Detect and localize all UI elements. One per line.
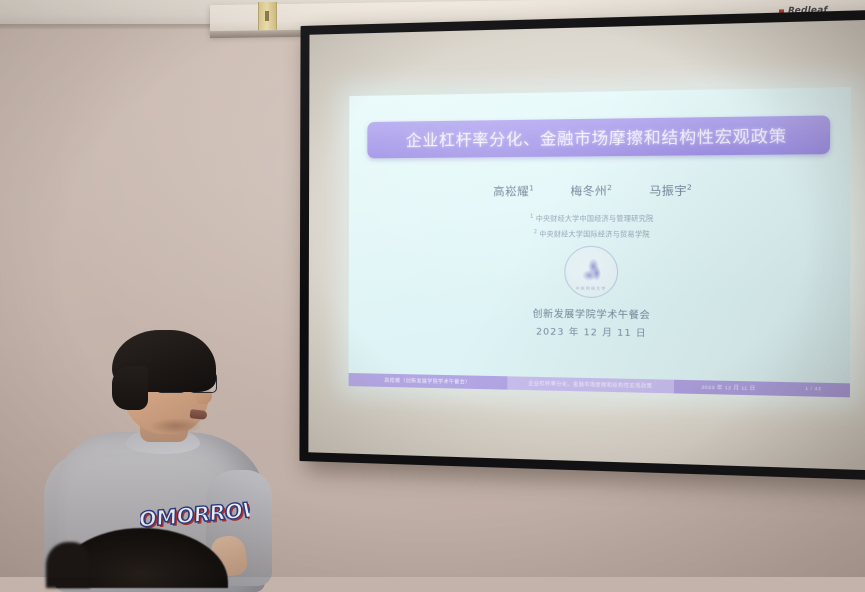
photo-scene: Redleaf 企业杠杆率分化、金融市场摩擦和结构性宏观政策 高崧耀1 梅冬州2… xyxy=(0,0,865,577)
footer-date: 2023 年 12 月 11 日 xyxy=(701,383,755,392)
footer-left: 高崧耀（创新发展学院学术午餐会） xyxy=(349,373,508,390)
author-3: 马振宇2 xyxy=(649,182,692,199)
slide-authors: 高崧耀1 梅冬州2 马振宇2 xyxy=(349,181,851,200)
emblem-figure xyxy=(577,257,605,286)
emblem-ring-text: 中央财经大学 xyxy=(565,286,617,292)
projection-screen: 企业杠杆率分化、金融市场摩擦和结构性宏观政策 高崧耀1 梅冬州2 马振宇2 1中… xyxy=(299,10,865,481)
screen-surface: 企业杠杆率分化、金融市场摩擦和结构性宏观政策 高崧耀1 梅冬州2 马振宇2 1中… xyxy=(308,20,865,471)
author-2: 梅冬州2 xyxy=(570,182,612,199)
footer-page-number: 1 / 42 xyxy=(805,387,821,393)
footer-right: 2023 年 12 月 11 日 1 / 42 xyxy=(674,380,850,398)
hair-sideburn xyxy=(112,366,148,410)
author-1: 高崧耀1 xyxy=(493,183,534,200)
slide-title: 企业杠杆率分化、金融市场摩擦和结构性宏观政策 xyxy=(406,124,787,151)
slide-title-banner: 企业杠杆率分化、金融市场摩擦和结构性宏观政策 xyxy=(367,115,830,158)
slide-footer-bar: 高崧耀（创新发展学院学术午餐会） 企业杠杆率分化、金融市场摩擦和结构性宏观政策 … xyxy=(349,373,850,397)
projected-slide: 企业杠杆率分化、金融市场摩擦和结构性宏观政策 高崧耀1 梅冬州2 马振宇2 1中… xyxy=(349,87,851,397)
slide-event-name: 创新发展学院学术午餐会 xyxy=(349,304,850,325)
screen-mount-bracket xyxy=(258,2,277,30)
slide-event-date: 2023 年 12 月 11 日 xyxy=(349,322,850,343)
slide-affiliations: 1中央财经大学中国经济与管理研究院 2中央财经大学国际经济与贸易学院 xyxy=(349,212,851,239)
footer-center: 企业杠杆率分化、金融市场摩擦和结构性宏观政策 xyxy=(508,376,674,393)
affiliation-2: 2中央财经大学国际经济与贸易学院 xyxy=(534,228,650,239)
university-emblem-icon: 中央财经大学 xyxy=(564,246,618,298)
chin-shadow xyxy=(150,418,202,434)
affiliation-1: 1中央财经大学中国经济与管理研究院 xyxy=(530,212,654,223)
